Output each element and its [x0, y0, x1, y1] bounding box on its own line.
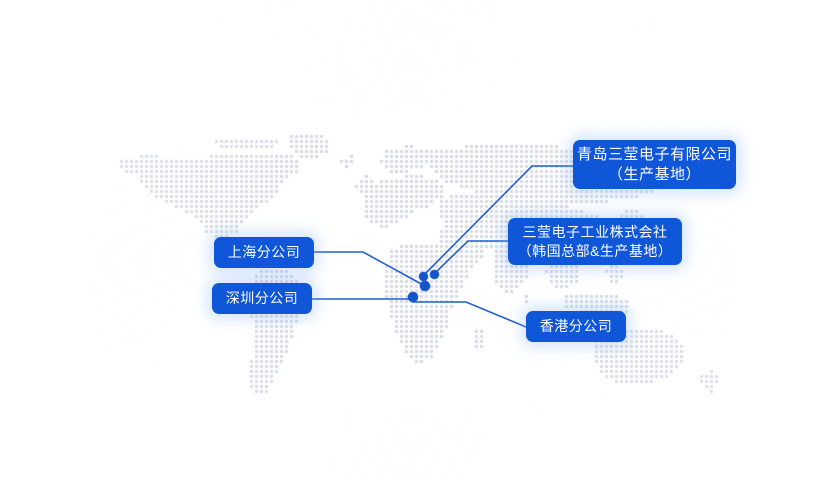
label-text-line: 三莹电子工业株式会社 — [523, 223, 668, 241]
label-shenzhen[interactable]: 深圳分公司 — [212, 283, 312, 314]
marker-korea-hq[interactable] — [430, 270, 439, 279]
world-map-infographic: 青岛三莹电子有限公司（生产基地）三莹电子工业株式会社（韩国总部&生产基地）上海分… — [0, 0, 824, 480]
label-text-line: 上海分公司 — [228, 243, 301, 261]
marker-shenzhen[interactable] — [408, 292, 418, 302]
label-text-line: 青岛三莹电子有限公司 — [577, 145, 732, 165]
label-shanghai[interactable]: 上海分公司 — [214, 237, 314, 268]
marker-qingdao[interactable] — [419, 272, 428, 281]
label-text-line: 深圳分公司 — [226, 289, 299, 307]
label-text-line: （韩国总部&生产基地） — [518, 242, 673, 260]
label-korea-hq[interactable]: 三莹电子工业株式会社（韩国总部&生产基地） — [508, 218, 682, 265]
label-text-line: 香港分公司 — [540, 317, 613, 335]
marker-shanghai[interactable] — [420, 281, 430, 291]
label-text-line: （生产基地） — [608, 165, 701, 185]
dotted-world-map — [0, 0, 824, 480]
label-hongkong[interactable]: 香港分公司 — [526, 311, 626, 342]
label-qingdao[interactable]: 青岛三莹电子有限公司（生产基地） — [573, 140, 736, 189]
